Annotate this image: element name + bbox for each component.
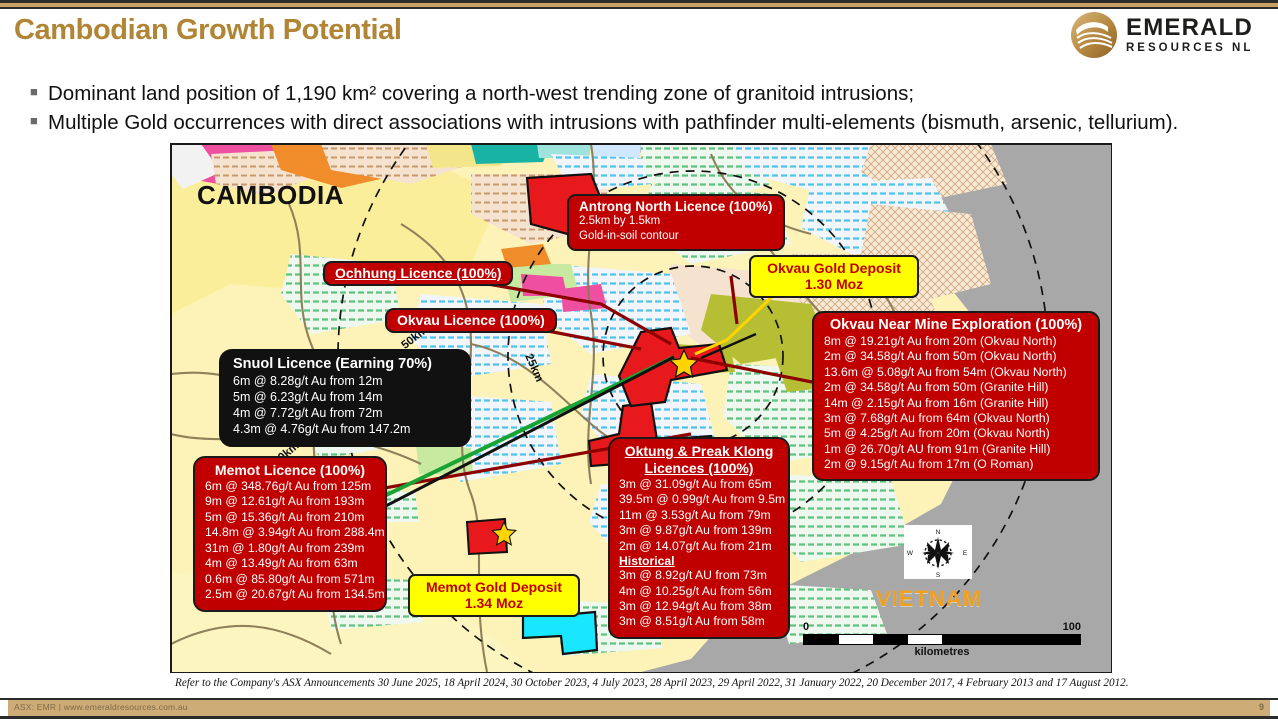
callout-title: Antrong North Licence (100%) — [579, 199, 773, 214]
callout-okvau-licence[interactable]: Okvau Licence (100%) — [385, 308, 557, 333]
svg-text:S: S — [936, 572, 941, 579]
callout-line: 2m @ 34.58g/t Au from 50m (Okvau North) — [824, 349, 1088, 364]
callout-okvau-gold-deposit[interactable]: Okvau Gold Deposit 1.30 Moz — [749, 255, 919, 298]
logo-wordmark: EMERALD — [1126, 14, 1253, 41]
bullet-list: ■ Dominant land position of 1,190 km² co… — [30, 80, 1250, 137]
callout-line: 14.8m @ 3.94g/t Au from 288.4m — [205, 525, 375, 540]
callout-line: 39.5m @ 0.99g/t Au from 9.5m — [619, 492, 779, 507]
scale-caption: kilometres — [803, 646, 1081, 658]
svg-text:N: N — [936, 529, 941, 536]
bullet-text: Dominant land position of 1,190 km² cove… — [48, 80, 1250, 107]
callout-memot-licence[interactable]: Memot Licence (100%) 6m @ 348.76g/t Au f… — [193, 456, 387, 612]
bullet-text: Multiple Gold occurrences with direct as… — [48, 109, 1250, 136]
callout-line: 13.6m @ 5.08g/t Au from 54m (Okvau North… — [824, 365, 1088, 380]
page-number: 9 — [1259, 702, 1264, 712]
callout-title: Memot Licence (100%) — [205, 462, 375, 478]
callout-oktung-preak-klong[interactable]: Oktung & Preak Klong Licences (100%) 3m … — [608, 437, 790, 639]
callout-memot-gold-deposit[interactable]: Memot Gold Deposit 1.34 Moz — [408, 574, 580, 617]
callout-line: 6m @ 8.28g/t Au from 12m — [233, 373, 457, 389]
bullet-square-icon: ■ — [30, 80, 48, 105]
cambodia-licence-map[interactable]: CAMBODIA VIETNAM 25km 50km 100km Antrong… — [170, 143, 1112, 673]
callout-value: 1.30 Moz — [757, 276, 911, 292]
callout-line: 5m @ 4.25g/t Au from 20m (Okvau North) — [824, 426, 1088, 441]
reference-note: Refer to the Company's ASX Announcements… — [175, 677, 1175, 689]
callout-value: 1.34 Moz — [416, 595, 572, 611]
callout-line: 3m @ 8.92g/t AU from 73m — [619, 568, 779, 583]
scale-bar-graphic — [803, 634, 1081, 645]
bullet-square-icon: ■ — [30, 109, 48, 134]
callout-line: 4m @ 7.72g/t Au from 72m — [233, 405, 457, 421]
svg-text:W: W — [907, 550, 914, 557]
callout-line: 9m @ 12.61g/t Au from 193m — [205, 494, 375, 509]
callout-title: Memot Gold Deposit — [416, 579, 572, 595]
emerald-circle-waves-icon — [1070, 11, 1118, 59]
footer-ticker-and-website[interactable]: ASX: EMR | www.emeraldresources.com.au — [14, 702, 188, 712]
callout-line: 3m @ 7.68g/t Au from 64m (Okvau North) — [824, 411, 1088, 426]
company-logo: EMERALD RESOURCES NL — [1070, 8, 1270, 62]
svg-text:E: E — [963, 550, 968, 557]
country-label-cambodia: CAMBODIA — [197, 180, 344, 211]
callout-line: 3m @ 12.94g/t Au from 38m — [619, 599, 779, 614]
list-item: ■ Multiple Gold occurrences with direct … — [30, 109, 1250, 136]
callout-line: 14m @ 2.15g/t Au from 16m (Granite Hill) — [824, 396, 1088, 411]
logo-subtitle: RESOURCES NL — [1126, 43, 1253, 55]
callout-historical-label: Historical — [619, 554, 779, 568]
callout-line: 31m @ 1.80g/t Au from 239m — [205, 541, 375, 556]
compass-rose-icon: N S W E — [904, 525, 972, 579]
callout-line: 8m @ 19.21g/t Au from 20m (Okvau North) — [824, 334, 1088, 349]
callout-line: 4.3m @ 4.76g/t Au from 147.2m — [233, 421, 457, 437]
callout-title: Okvau Licence (100%) — [397, 312, 545, 328]
callout-line: 3m @ 9.87g/t Au from 139m — [619, 523, 779, 538]
callout-title: Okvau Gold Deposit — [757, 260, 911, 276]
callout-line: 2m @ 9.15g/t Au from 17m (O Roman) — [824, 457, 1088, 472]
country-label-vietnam: VIETNAM — [876, 586, 982, 612]
callout-snuol-licence[interactable]: Snuol Licence (Earning 70%) 6m @ 8.28g/t… — [219, 349, 471, 447]
callout-line: 2m @ 14.07g/t Au from 21m — [619, 539, 779, 554]
footer-band — [8, 700, 1270, 716]
scale-min-label: 0 — [803, 621, 809, 633]
callout-line: 1m @ 26.70g/t AU from 91m (Granite Hill) — [824, 442, 1088, 457]
callout-line: Gold-in-soil contour — [579, 229, 773, 244]
callout-line: 11m @ 3.53g/t Au from 79m — [619, 508, 779, 523]
callout-line: 2.5m @ 20.67g/t Au from 134.5m — [205, 587, 375, 602]
callout-ochhung-licence[interactable]: Ochhung Licence (100%) — [323, 261, 513, 286]
callout-title-line1: Oktung & Preak Klong — [619, 443, 779, 460]
callout-antrong-north[interactable]: Antrong North Licence (100%) 2.5km by 1.… — [567, 194, 785, 251]
callout-line: 2.5km by 1.5km — [579, 214, 773, 229]
callout-line: 3m @ 31.09g/t Au from 65m — [619, 477, 779, 492]
scale-max-label: 100 — [1063, 621, 1081, 633]
callout-line: 4m @ 13.49g/t Au from 63m — [205, 556, 375, 571]
callout-line: 3m @ 8.51g/t Au from 58m — [619, 614, 779, 629]
callout-line: 2m @ 34.58g/t Au from 50m (Granite Hill) — [824, 380, 1088, 395]
header-rule — [0, 0, 1278, 8]
callout-okvau-near-mine-exploration[interactable]: Okvau Near Mine Exploration (100%) 8m @ … — [812, 311, 1100, 481]
list-item: ■ Dominant land position of 1,190 km² co… — [30, 80, 1250, 107]
callout-line: 4m @ 10.25g/t Au from 56m — [619, 584, 779, 599]
footer-bar: ASX: EMR | www.emeraldresources.com.au 9 — [0, 698, 1278, 719]
callout-line: 6m @ 348.76g/t Au from 125m — [205, 479, 375, 494]
callout-line: 5m @ 6.23g/t Au from 14m — [233, 389, 457, 405]
page-title: Cambodian Growth Potential — [14, 14, 402, 47]
callout-title: Ochhung Licence (100%) — [335, 265, 501, 281]
callout-line: 5m @ 15.36g/t Au from 210m — [205, 510, 375, 525]
callout-title-line2: Licences (100%) — [619, 460, 779, 477]
callout-title: Snuol Licence (Earning 70%) — [233, 356, 457, 372]
map-scale-bar: 0 100 kilometres — [803, 621, 1081, 658]
callout-title: Okvau Near Mine Exploration (100%) — [824, 317, 1088, 333]
callout-line: 0.6m @ 85.80g/t Au from 571m — [205, 572, 375, 587]
